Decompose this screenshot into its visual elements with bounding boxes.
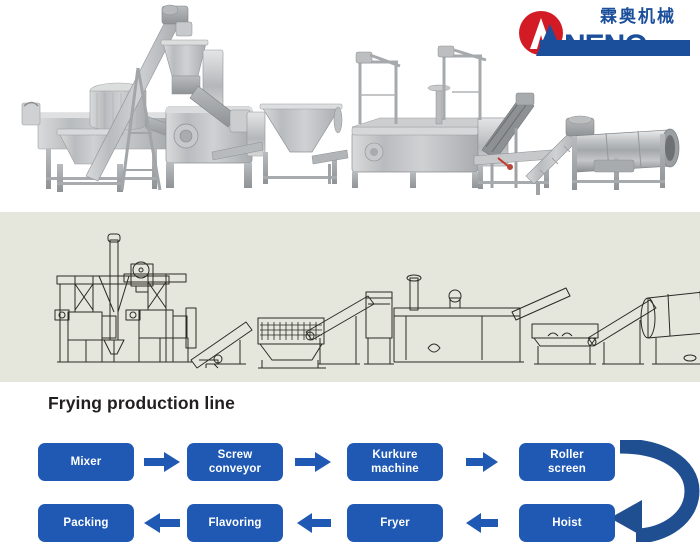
flow-node-kurkure-machine-label: Kurkure machine: [371, 448, 419, 476]
flow-arrow-6: [466, 513, 498, 533]
production-line-schematic: [0, 212, 700, 382]
svg-text:霖奥机械: 霖奥机械: [600, 6, 676, 27]
schematic-band: [0, 212, 700, 382]
logo-chinese-text: 霖奥机械: [600, 6, 676, 27]
product-image: 霖奥机械 NENO: [0, 0, 700, 560]
machinery-photo-band: 霖奥机械 NENO: [0, 0, 700, 208]
flow-node-mixer[interactable]: Mixer: [38, 443, 134, 481]
flow-node-roller-screen-label: Roller screen: [548, 448, 586, 476]
flow-node-roller-screen[interactable]: Roller screen: [519, 443, 615, 481]
flow-arrow-5: [297, 513, 331, 533]
flow-arrow-wrap: [612, 440, 700, 547]
flow-node-packing[interactable]: Packing: [38, 504, 134, 542]
flow-arrow-3: [466, 452, 498, 472]
flow-node-flavoring[interactable]: Flavoring: [187, 504, 283, 542]
flowchart-title: Frying production line: [48, 393, 235, 414]
process-flowchart: Frying production line Mixer Screw conve…: [0, 382, 700, 560]
flow-arrow-4: [144, 513, 180, 533]
flow-node-kurkure-machine[interactable]: Kurkure machine: [347, 443, 443, 481]
svg-text:NENO: NENO: [564, 29, 647, 60]
flow-node-fryer[interactable]: Fryer: [347, 504, 443, 542]
flow-arrow-1: [144, 452, 180, 472]
brand-logo: 霖奥机械 NENO: [504, 2, 694, 60]
flow-node-hoist[interactable]: Hoist: [519, 504, 615, 542]
flow-node-screw-conveyor-label: Screw conveyor: [209, 448, 261, 476]
flow-arrow-2: [295, 452, 331, 472]
flow-node-screw-conveyor[interactable]: Screw conveyor: [187, 443, 283, 481]
